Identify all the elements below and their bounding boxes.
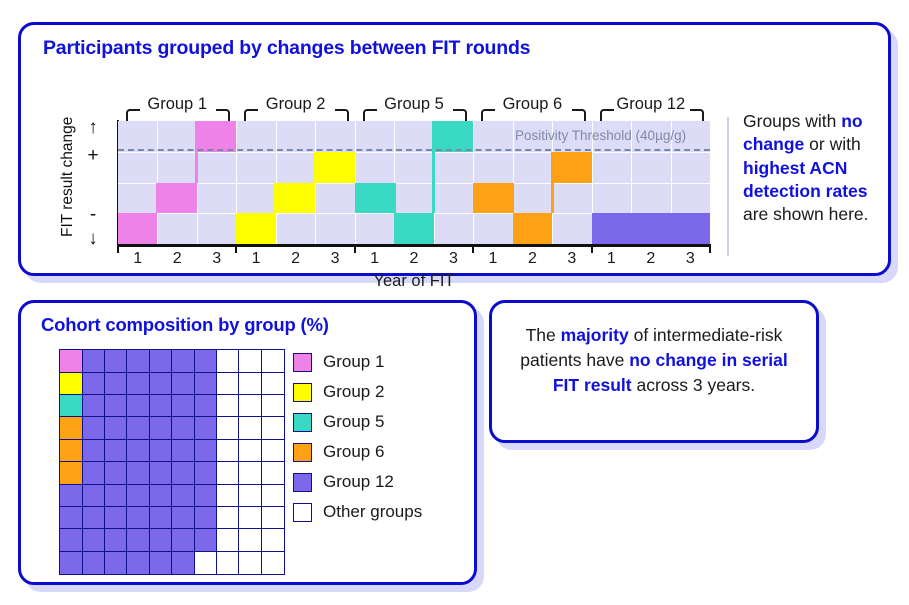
legend-item-group5: Group 5 bbox=[293, 407, 473, 437]
waffle-cell bbox=[59, 416, 83, 440]
waffle-cell bbox=[126, 506, 150, 530]
chart-step-cell bbox=[513, 213, 552, 244]
waffle-cell bbox=[216, 461, 240, 485]
side-note-segment-4: are shown here. bbox=[743, 204, 869, 224]
side-note-segment-0: Groups with bbox=[743, 111, 841, 131]
waffle-cell bbox=[149, 506, 173, 530]
waffle-cell bbox=[261, 506, 285, 530]
waffle-cell bbox=[104, 461, 128, 485]
waffle-cell bbox=[104, 506, 128, 530]
waffle-cell bbox=[59, 439, 83, 463]
chart-step-cell bbox=[394, 213, 433, 244]
legend-item-group2: Group 2 bbox=[293, 377, 473, 407]
chart-step-cell bbox=[631, 213, 670, 244]
waffle-cell bbox=[261, 484, 285, 508]
x-tick-label: 3 bbox=[205, 250, 229, 268]
waffle-panel-title: Cohort composition by group (%) bbox=[41, 314, 329, 336]
waffle-cell bbox=[149, 394, 173, 418]
chart-step-riser bbox=[314, 152, 317, 183]
waffle-legend: Group 1Group 2Group 5Group 6Group 12Othe… bbox=[293, 347, 473, 527]
x-axis-line bbox=[117, 244, 711, 247]
x-axis-group-separator bbox=[235, 244, 237, 253]
conclusion-panel: The majority of intermediate-risk patien… bbox=[489, 300, 819, 443]
waffle-cell bbox=[126, 439, 150, 463]
legend-label: Other groups bbox=[323, 502, 422, 522]
waffle-cell bbox=[149, 372, 173, 396]
waffle-cell bbox=[59, 528, 83, 552]
waffle-cell bbox=[238, 461, 262, 485]
group-bracket-right bbox=[690, 109, 704, 121]
chart-step-cell bbox=[197, 121, 236, 152]
waffle-cell bbox=[126, 528, 150, 552]
waffle-cell bbox=[126, 372, 150, 396]
chart-step-riser bbox=[511, 183, 514, 214]
y-axis-label-group: FIT result change bbox=[57, 125, 79, 243]
x-tick-label: 3 bbox=[560, 250, 584, 268]
waffle-cell bbox=[261, 416, 285, 440]
side-note-segment-3: highest ACN detection rates bbox=[743, 158, 867, 201]
side-note-text: Groups with no change or with highest AC… bbox=[743, 110, 885, 226]
waffle-cell bbox=[126, 484, 150, 508]
legend-swatch-other bbox=[293, 503, 312, 522]
waffle-cell bbox=[238, 349, 262, 373]
chart-gridline-horizontal bbox=[118, 183, 710, 184]
waffle-cell bbox=[261, 394, 285, 418]
legend-item-group6: Group 6 bbox=[293, 437, 473, 467]
x-axis-group-separator bbox=[472, 244, 474, 253]
x-tick-label: 1 bbox=[481, 250, 505, 268]
group-bracket-right bbox=[572, 109, 586, 121]
x-tick-label: 3 bbox=[441, 250, 465, 268]
waffle-cell bbox=[171, 349, 195, 373]
waffle-cell bbox=[261, 372, 285, 396]
waffle-cell bbox=[126, 349, 150, 373]
waffle-cell bbox=[238, 551, 262, 575]
x-tick-label: 2 bbox=[520, 250, 544, 268]
waffle-cell bbox=[171, 461, 195, 485]
waffle-cell bbox=[82, 484, 106, 508]
waffle-cell bbox=[238, 416, 262, 440]
side-note-segment-2: or with bbox=[804, 134, 860, 154]
chart-step-cell bbox=[671, 213, 710, 244]
waffle-cell bbox=[104, 394, 128, 418]
waffle-cell bbox=[238, 484, 262, 508]
group-bracket-left bbox=[126, 109, 140, 121]
waffle-cell bbox=[238, 506, 262, 530]
chart-panel: Participants grouped by changes between … bbox=[18, 22, 891, 276]
x-tick-label: 2 bbox=[165, 250, 189, 268]
waffle-cell bbox=[216, 528, 240, 552]
conclusion-segment-0: The bbox=[526, 325, 561, 345]
waffle-cell bbox=[59, 394, 83, 418]
waffle-cell bbox=[171, 528, 195, 552]
waffle-cell bbox=[261, 439, 285, 463]
waffle-cell bbox=[126, 461, 150, 485]
x-tick-label: 1 bbox=[599, 250, 623, 268]
waffle-cell bbox=[171, 506, 195, 530]
chart-step-riser bbox=[432, 121, 435, 213]
waffle-cell bbox=[104, 439, 128, 463]
chart-step-cell bbox=[434, 121, 473, 152]
y-axis-plus-symbol: + bbox=[83, 145, 103, 167]
chart-step-riser bbox=[551, 152, 554, 214]
waffle-cell bbox=[194, 528, 218, 552]
chart-step-cell bbox=[592, 213, 631, 244]
group-bracket-left bbox=[244, 109, 258, 121]
waffle-cell bbox=[194, 461, 218, 485]
chart-step-cell bbox=[157, 183, 196, 214]
waffle-cell bbox=[216, 506, 240, 530]
waffle-cell bbox=[104, 372, 128, 396]
positivity-threshold-line bbox=[118, 149, 710, 151]
waffle-cell bbox=[194, 484, 218, 508]
legend-label: Group 6 bbox=[323, 442, 384, 462]
x-tick-label: 2 bbox=[284, 250, 308, 268]
waffle-cell bbox=[216, 551, 240, 575]
fit-change-chart: Group 1Group 2Group 5Group 6Group 12 FIT… bbox=[21, 25, 888, 273]
x-tick-label: 3 bbox=[323, 250, 347, 268]
x-axis-group-separator bbox=[354, 244, 356, 253]
waffle-cell bbox=[126, 394, 150, 418]
chart-step-cell bbox=[236, 213, 275, 244]
legend-label: Group 1 bbox=[323, 352, 384, 372]
group-bracket-right bbox=[453, 109, 467, 121]
waffle-cell bbox=[171, 551, 195, 575]
waffle-grid bbox=[59, 349, 285, 575]
waffle-cell bbox=[149, 416, 173, 440]
chart-step-cell bbox=[118, 213, 157, 244]
chart-step-cell bbox=[473, 183, 512, 214]
chart-step-riser bbox=[274, 183, 277, 214]
waffle-cell bbox=[82, 461, 106, 485]
waffle-cell bbox=[82, 528, 106, 552]
side-note-divider bbox=[727, 117, 729, 256]
chart-step-riser bbox=[195, 121, 198, 183]
waffle-cell bbox=[238, 394, 262, 418]
chart-step-riser bbox=[156, 183, 159, 214]
waffle-cell bbox=[104, 528, 128, 552]
legend-swatch-group2 bbox=[293, 383, 312, 402]
group-bracket-right bbox=[335, 109, 349, 121]
group-bracket-left bbox=[600, 109, 614, 121]
legend-swatch-group5 bbox=[293, 413, 312, 432]
waffle-cell bbox=[171, 372, 195, 396]
waffle-cell bbox=[82, 394, 106, 418]
chart-step-riser bbox=[393, 183, 396, 214]
waffle-cell bbox=[171, 439, 195, 463]
waffle-cell bbox=[194, 394, 218, 418]
y-axis-label: FIT result change bbox=[59, 119, 77, 237]
waffle-cell bbox=[261, 528, 285, 552]
x-tick-label: 1 bbox=[244, 250, 268, 268]
legend-item-group1: Group 1 bbox=[293, 347, 473, 377]
waffle-cell bbox=[59, 551, 83, 575]
waffle-cell bbox=[238, 372, 262, 396]
waffle-cell bbox=[216, 416, 240, 440]
waffle-cell bbox=[216, 484, 240, 508]
positivity-threshold-label: Positivity Threshold (40µg/g) bbox=[515, 128, 686, 143]
legend-item-group12: Group 12 bbox=[293, 467, 473, 497]
group-bracket-left bbox=[363, 109, 377, 121]
waffle-cell bbox=[149, 484, 173, 508]
waffle-cell bbox=[126, 551, 150, 575]
chart-step-cell bbox=[552, 152, 591, 183]
waffle-cell bbox=[149, 551, 173, 575]
waffle-cell bbox=[261, 461, 285, 485]
waffle-cell bbox=[171, 394, 195, 418]
waffle-cell bbox=[194, 551, 218, 575]
waffle-cell bbox=[216, 349, 240, 373]
waffle-cell bbox=[238, 439, 262, 463]
waffle-cell bbox=[104, 349, 128, 373]
waffle-cell bbox=[216, 372, 240, 396]
group-bracket-right bbox=[216, 109, 230, 121]
waffle-cell bbox=[59, 349, 83, 373]
chart-gridline-horizontal bbox=[118, 152, 710, 153]
waffle-cell bbox=[82, 349, 106, 373]
x-axis-group-separator bbox=[117, 244, 119, 253]
waffle-cell bbox=[126, 416, 150, 440]
waffle-cell bbox=[149, 439, 173, 463]
waffle-cell bbox=[194, 416, 218, 440]
waffle-cell bbox=[194, 372, 218, 396]
legend-label: Group 12 bbox=[323, 472, 394, 492]
waffle-cell bbox=[149, 349, 173, 373]
y-axis-down-arrow-icon: ↓ bbox=[83, 229, 103, 248]
y-axis-minus-symbol: - bbox=[83, 204, 103, 226]
legend-swatch-group1 bbox=[293, 353, 312, 372]
waffle-cell bbox=[149, 528, 173, 552]
legend-item-other: Other groups bbox=[293, 497, 473, 527]
conclusion-segment-4: across 3 years. bbox=[632, 375, 756, 395]
waffle-cell bbox=[261, 551, 285, 575]
x-tick-label: 3 bbox=[678, 250, 702, 268]
x-axis-group-separator bbox=[591, 244, 593, 253]
waffle-cell bbox=[59, 484, 83, 508]
waffle-cell bbox=[59, 372, 83, 396]
x-tick-label: 1 bbox=[363, 250, 387, 268]
x-axis-group-separator bbox=[709, 244, 711, 253]
cohort-composition-panel: Cohort composition by group (%) Group 1G… bbox=[18, 300, 477, 585]
x-tick-label: 1 bbox=[126, 250, 150, 268]
chart-step-cell bbox=[276, 183, 315, 214]
conclusion-text: The majority of intermediate-risk patien… bbox=[508, 323, 800, 398]
waffle-cell bbox=[238, 528, 262, 552]
waffle-cell bbox=[149, 461, 173, 485]
waffle-cell bbox=[82, 551, 106, 575]
waffle-cell bbox=[194, 506, 218, 530]
waffle-cell bbox=[171, 484, 195, 508]
waffle-cell bbox=[104, 416, 128, 440]
waffle-cell bbox=[82, 372, 106, 396]
legend-swatch-group12 bbox=[293, 473, 312, 492]
waffle-cell bbox=[104, 551, 128, 575]
waffle-cell bbox=[194, 349, 218, 373]
chart-step-cell bbox=[315, 152, 354, 183]
conclusion-segment-1: majority bbox=[561, 325, 629, 345]
x-axis-title: Year of FIT bbox=[118, 272, 710, 291]
waffle-cell bbox=[216, 394, 240, 418]
legend-label: Group 5 bbox=[323, 412, 384, 432]
waffle-cell bbox=[59, 461, 83, 485]
x-tick-label: 2 bbox=[639, 250, 663, 268]
group-bracket-left bbox=[481, 109, 495, 121]
legend-swatch-group6 bbox=[293, 443, 312, 462]
waffle-cell bbox=[171, 416, 195, 440]
waffle-cell bbox=[194, 439, 218, 463]
chart-step-cell bbox=[355, 183, 394, 214]
waffle-cell bbox=[82, 416, 106, 440]
x-tick-label: 2 bbox=[402, 250, 426, 268]
waffle-cell bbox=[82, 506, 106, 530]
waffle-cell bbox=[104, 484, 128, 508]
legend-label: Group 2 bbox=[323, 382, 384, 402]
y-axis-symbols: ↑ + - ↓ bbox=[83, 120, 103, 245]
waffle-cell bbox=[261, 349, 285, 373]
waffle-cell bbox=[82, 439, 106, 463]
waffle-cell bbox=[216, 439, 240, 463]
waffle-cell bbox=[59, 506, 83, 530]
y-axis-up-arrow-icon: ↑ bbox=[83, 118, 103, 137]
